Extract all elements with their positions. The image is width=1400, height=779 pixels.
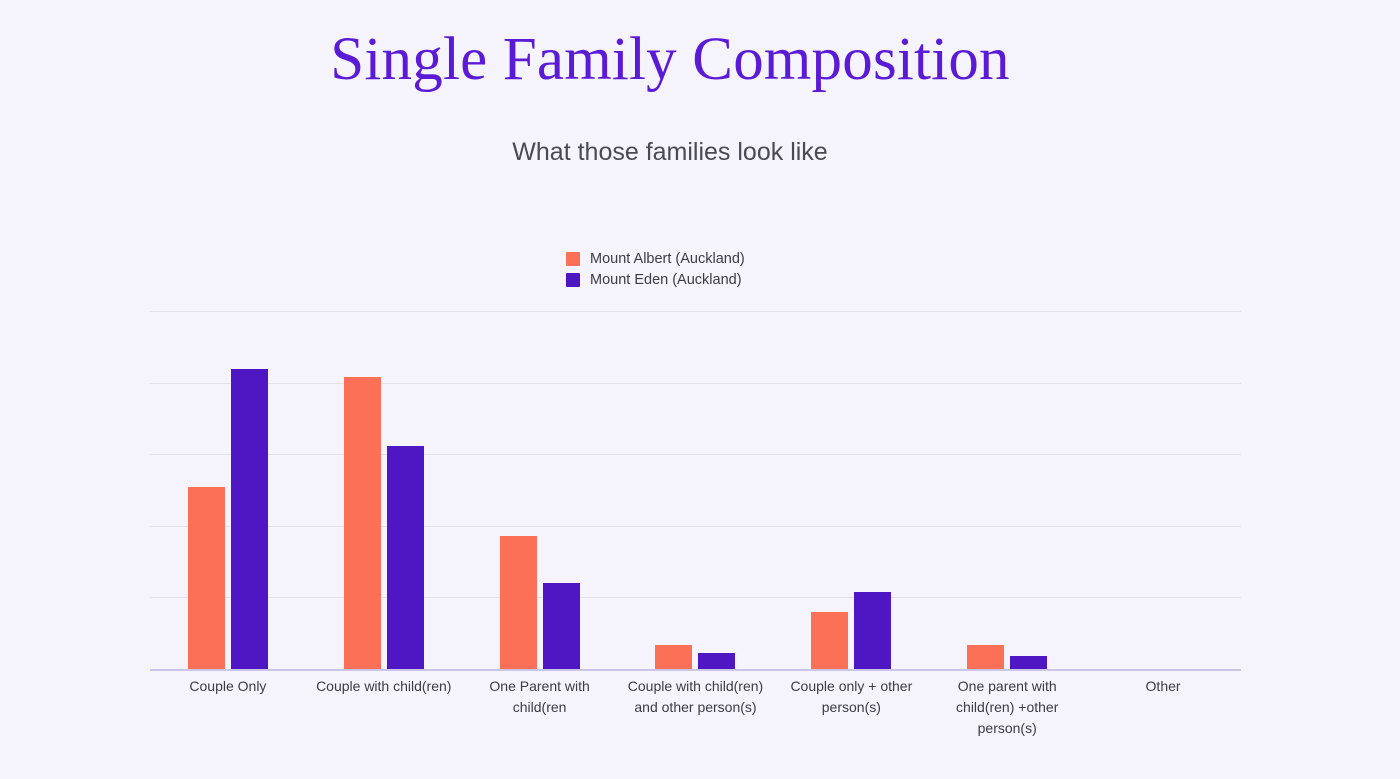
bar-group xyxy=(1085,311,1241,669)
axis-baseline xyxy=(150,669,1241,671)
bars-layer xyxy=(150,311,1241,669)
bar[interactable] xyxy=(811,612,848,669)
x-axis-labels: Couple OnlyCouple with child(ren)One Par… xyxy=(150,676,1241,771)
x-axis-tick-label: Couple with child(ren) and other person(… xyxy=(618,676,774,718)
bar[interactable] xyxy=(231,369,268,669)
bar-group xyxy=(929,311,1085,669)
chart-page: Single Family Composition What those fam… xyxy=(0,0,1400,779)
bar[interactable] xyxy=(500,536,537,669)
x-axis-tick-label: One Parent with child(ren xyxy=(462,676,618,718)
x-axis-tick-label: One parent with child(ren) +other person… xyxy=(929,676,1085,739)
x-axis-tick-label: Couple Only xyxy=(150,676,306,697)
x-axis-tick-label: Couple only + other person(s) xyxy=(773,676,929,718)
plot-wrapper: 0%10%20%30%40%50% Couple OnlyCouple with… xyxy=(0,0,1400,779)
bar[interactable] xyxy=(188,487,225,669)
bar-group xyxy=(618,311,774,669)
bar[interactable] xyxy=(967,645,1004,669)
bar[interactable] xyxy=(698,653,735,669)
bar[interactable] xyxy=(655,645,692,669)
bar-group xyxy=(773,311,929,669)
bar[interactable] xyxy=(1010,656,1047,669)
bar[interactable] xyxy=(543,583,580,669)
bar[interactable] xyxy=(854,592,891,669)
bar[interactable] xyxy=(344,377,381,669)
x-axis-tick-label: Couple with child(ren) xyxy=(306,676,462,697)
bar[interactable] xyxy=(387,446,424,669)
bar-group xyxy=(150,311,306,669)
bar-group xyxy=(306,311,462,669)
x-axis-tick-label: Other xyxy=(1085,676,1241,697)
bar-group xyxy=(462,311,618,669)
